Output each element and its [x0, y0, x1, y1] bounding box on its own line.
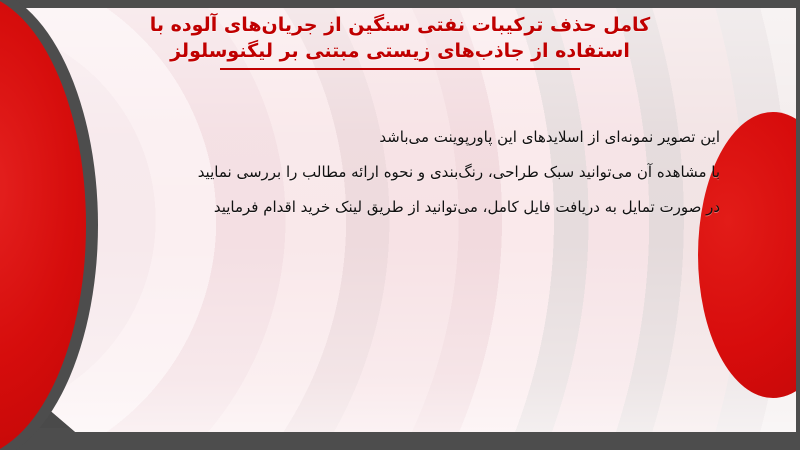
presentation-slide: کامل حذف ترکیبات نفتی سنگین از جریان‌های… [0, 0, 800, 450]
title-underline-rule [220, 68, 580, 70]
body-line-1: این تصویر نمونه‌ای از اسلایدهای این پاور… [60, 120, 720, 155]
title-line-2: استفاده از جاذب‌های زیستی مبتنی بر لیگنو… [0, 38, 800, 64]
title-line-1: کامل حذف ترکیبات نفتی سنگین از جریان‌های… [0, 12, 800, 38]
body-line-2: با مشاهده آن می‌توانید سبک طراحی، رنگ‌بن… [60, 155, 720, 190]
slide-body-text: این تصویر نمونه‌ای از اسلایدهای این پاور… [60, 120, 720, 225]
body-line-3: در صورت تمایل به دریافت فایل کامل، می‌تو… [60, 190, 720, 225]
slide-title: کامل حذف ترکیبات نفتی سنگین از جریان‌های… [0, 12, 800, 70]
